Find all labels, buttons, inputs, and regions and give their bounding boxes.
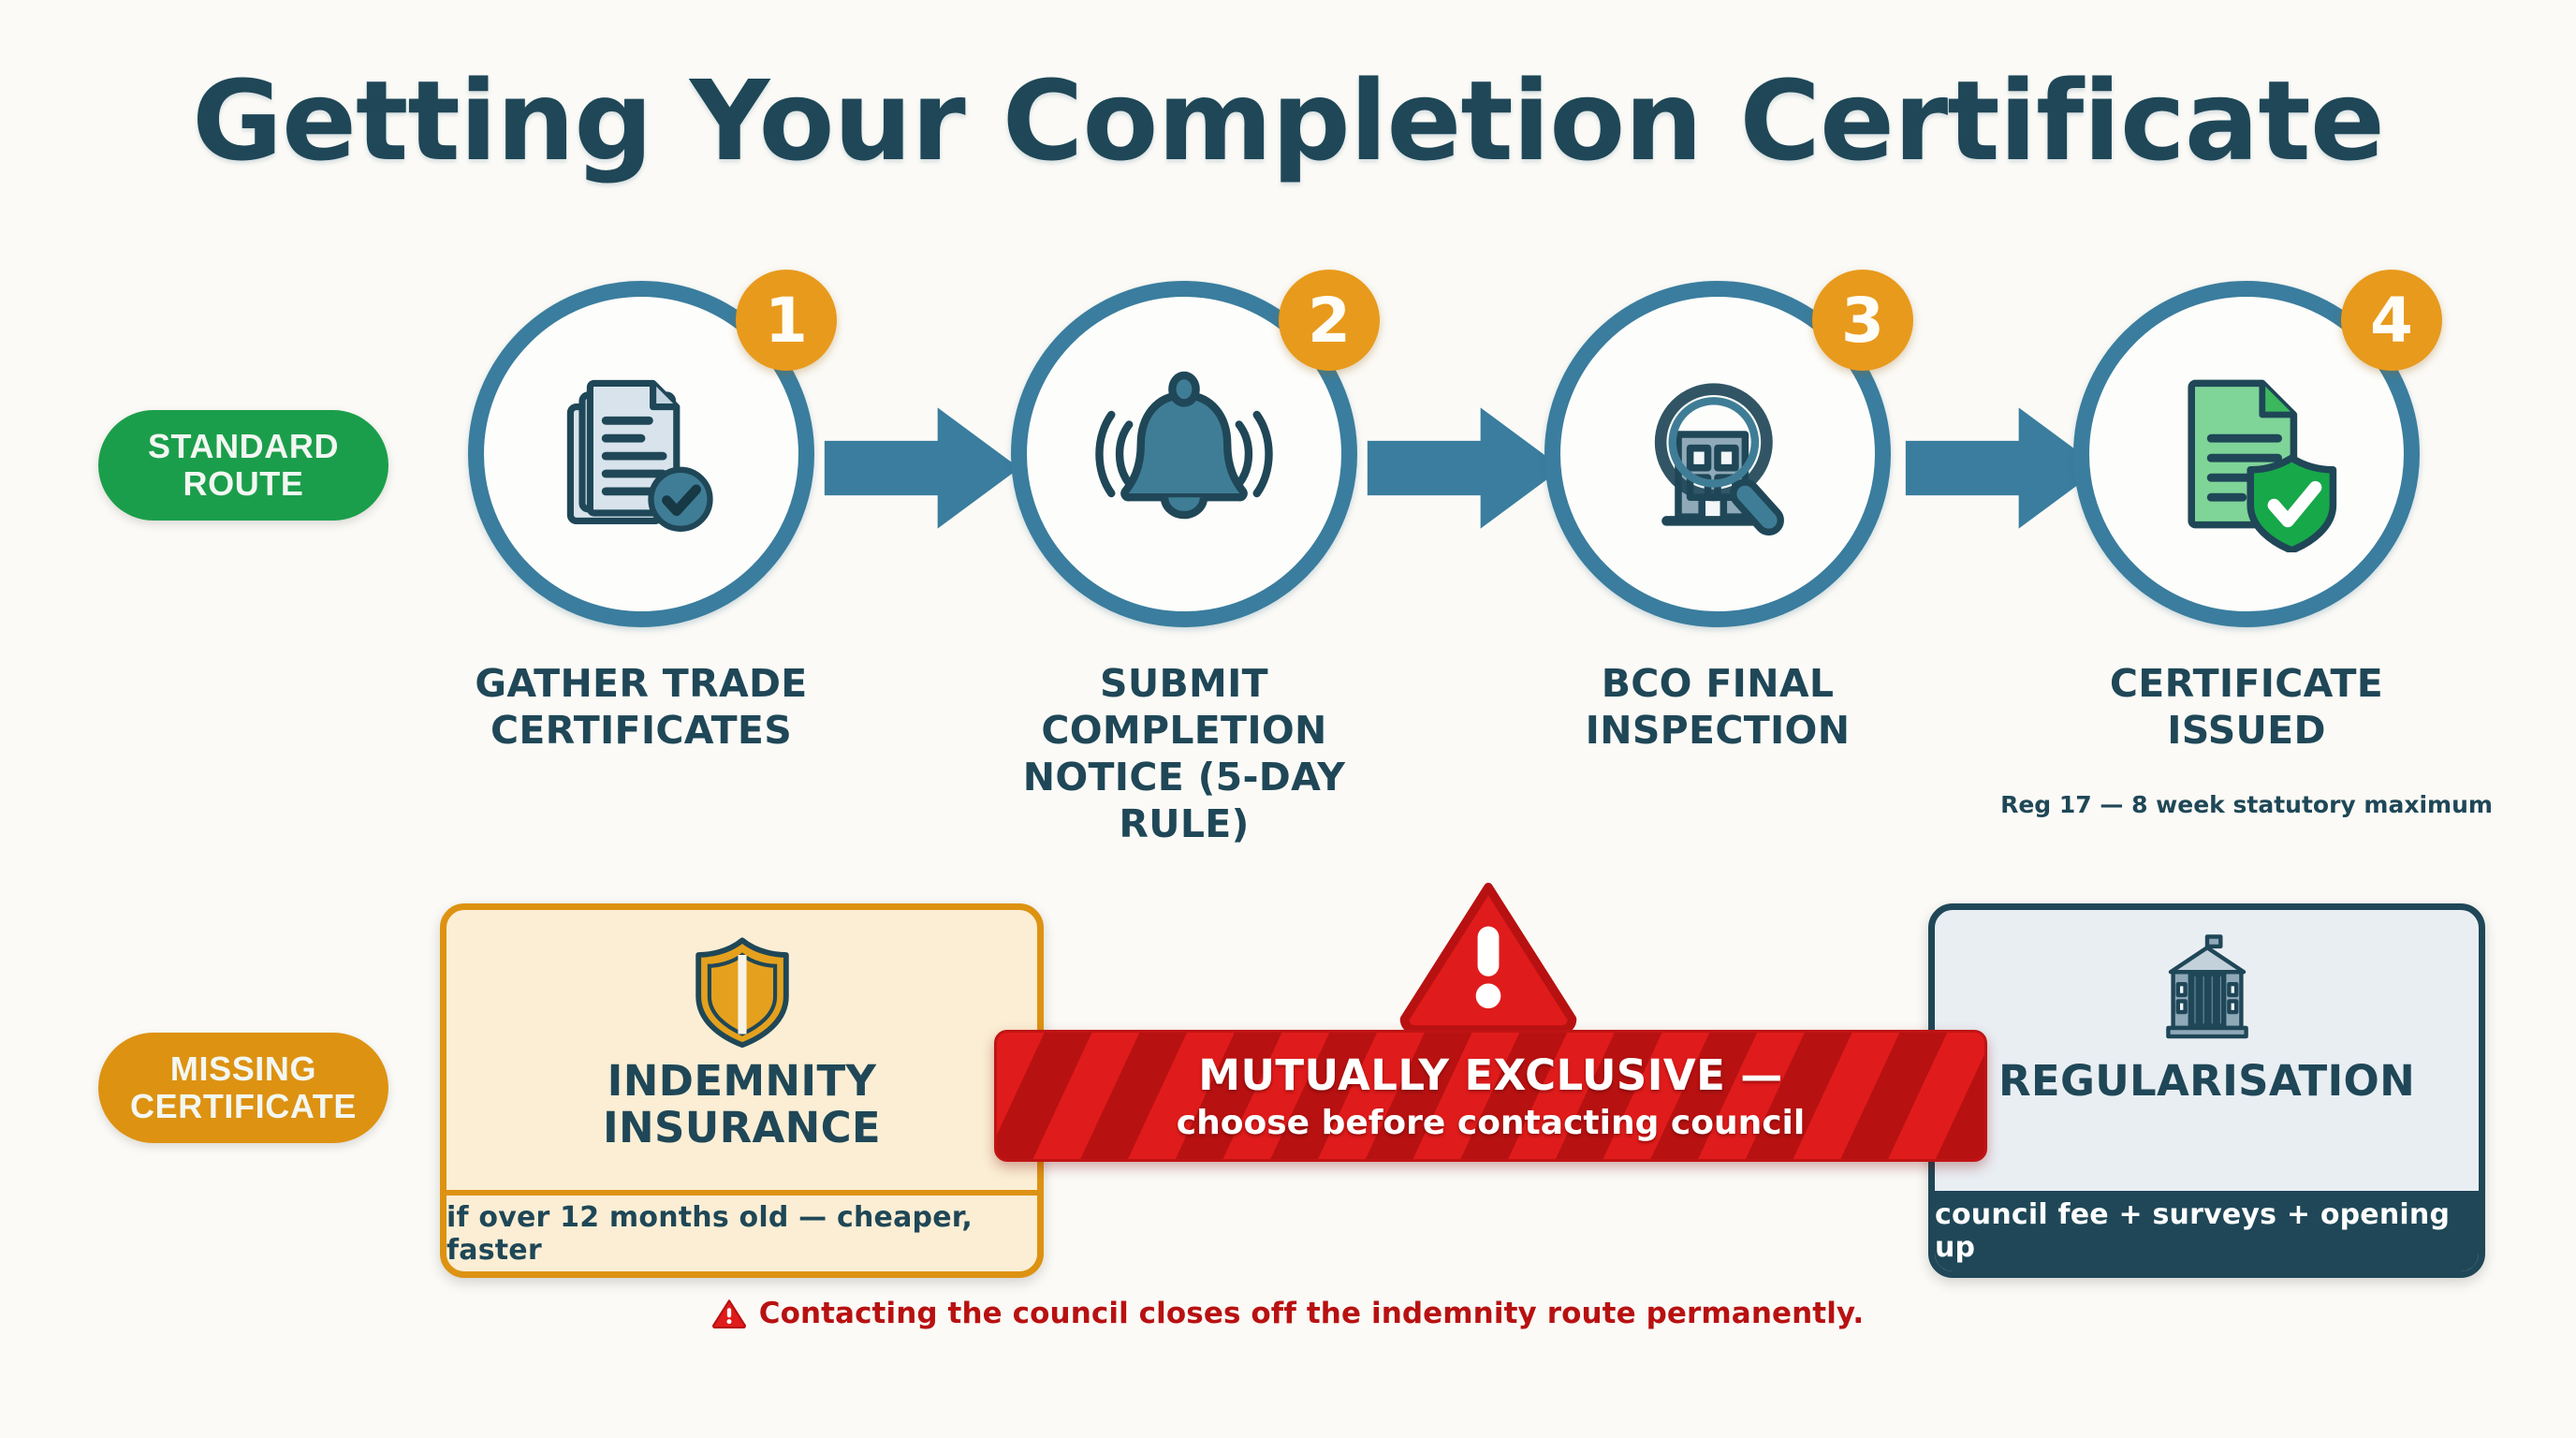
route-badge-missing-line1: MISSING: [170, 1050, 316, 1088]
step-4-label-line1: CERTIFICATE: [2050, 660, 2443, 707]
step-1-label: GATHER TRADE CERTIFICATES: [445, 660, 838, 754]
step-3: 3: [1544, 281, 1891, 627]
arrow-step-2-to-3: [1367, 398, 1563, 538]
arrow-step-3-to-4: [1905, 398, 2101, 538]
option-card-indemnity-title-line1: INDEMNITY: [603, 1058, 881, 1105]
footnote: Contacting the council closes off the in…: [0, 1297, 2576, 1330]
option-card-indemnity-title-line2: INSURANCE: [603, 1105, 881, 1152]
certificate-shield-icon: [2148, 356, 2345, 552]
step-4-label-line2: ISSUED: [2050, 707, 2443, 754]
step-2: 2: [1011, 281, 1357, 627]
step-1: 1: [468, 281, 814, 627]
step-1-label-line2: CERTIFICATES: [445, 707, 838, 754]
route-badge-missing: MISSING CERTIFICATE: [98, 1033, 388, 1143]
step-3-label: BCO FINAL INSPECTION: [1521, 660, 1914, 754]
footnote-text: Contacting the council closes off the in…: [759, 1297, 1865, 1330]
step-1-number-badge: 1: [736, 270, 837, 371]
route-badge-standard-line2: ROUTE: [183, 465, 304, 503]
shield-icon: [681, 931, 803, 1052]
infographic-canvas: Getting Your Completion Certificate STAN…: [0, 0, 2576, 1438]
route-badge-missing-line2: CERTIFICATE: [130, 1088, 357, 1125]
option-card-indemnity-title: INDEMNITY INSURANCE: [603, 1058, 881, 1152]
step-1-label-line1: GATHER TRADE: [445, 660, 838, 707]
page-title: Getting Your Completion Certificate: [0, 56, 2576, 185]
barrier-line2: choose before contacting council: [1177, 1104, 1805, 1142]
step-2-label-line2: NOTICE (5-DAY RULE): [988, 754, 1381, 847]
ringing-bell-icon: [1086, 356, 1282, 552]
option-card-indemnity: INDEMNITY INSURANCE if over 12 months ol…: [440, 903, 1044, 1278]
step-3-label-line2: INSPECTION: [1521, 707, 1914, 754]
option-card-regularisation-footer: council fee + surveys + opening up: [1935, 1191, 2479, 1271]
step-2-number-badge: 2: [1279, 270, 1380, 371]
step-4: 4: [2073, 281, 2420, 627]
step-3-label-line1: BCO FINAL: [1521, 660, 1914, 707]
footnote-warning-icon: [712, 1299, 746, 1328]
route-badge-standard: STANDARD ROUTE: [98, 410, 388, 521]
step-4-label: CERTIFICATE ISSUED: [2050, 660, 2443, 754]
step-2-label: SUBMIT COMPLETION NOTICE (5-DAY RULE): [988, 660, 1381, 847]
step-3-number-badge: 3: [1812, 270, 1913, 371]
option-card-indemnity-body: INDEMNITY INSURANCE: [446, 910, 1037, 1202]
option-card-regularisation: REGULARISATION council fee + surveys + o…: [1928, 903, 2485, 1278]
option-card-indemnity-footer: if over 12 months old — cheaper, faster: [446, 1190, 1037, 1271]
step-statutory-note: Reg 17 — 8 week statutory maximum: [1984, 791, 2509, 818]
route-badge-standard-line1: STANDARD: [148, 428, 339, 465]
step-2-label-line1: SUBMIT COMPLETION: [988, 660, 1381, 754]
building-magnifier-icon: [1619, 356, 1816, 552]
barrier-line1: MUTUALLY EXCLUSIVE —: [1198, 1050, 1782, 1100]
option-card-regularisation-body: REGULARISATION: [1935, 910, 2479, 1210]
arrow-step-1-to-2: [824, 398, 1020, 538]
mutually-exclusive-barrier: MUTUALLY EXCLUSIVE — choose before conta…: [994, 1030, 1987, 1162]
government-building-icon: [2146, 931, 2268, 1052]
documents-check-icon: [543, 356, 739, 552]
step-4-number-badge: 4: [2341, 270, 2442, 371]
option-card-regularisation-title: REGULARISATION: [1998, 1058, 2415, 1105]
warning-triangle-icon: [1395, 880, 1582, 1030]
